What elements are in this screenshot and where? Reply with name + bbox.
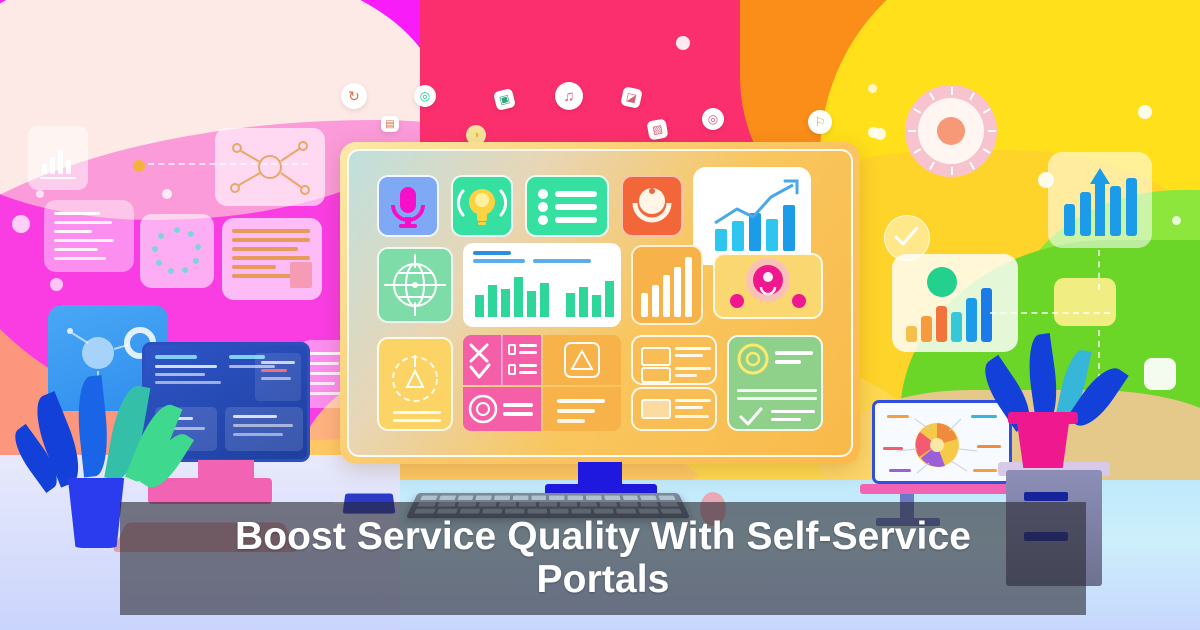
tile-customer-profile[interactable] — [713, 253, 823, 319]
tile-growth-chart[interactable] — [693, 167, 811, 265]
decor-dot — [868, 84, 877, 93]
tile-chat-support[interactable] — [463, 387, 541, 431]
tile-analytics-report[interactable] — [463, 243, 621, 327]
colored-bar-chart-icon — [892, 254, 1018, 352]
tile-resolved-tickets[interactable] — [727, 335, 823, 431]
decor-dot — [162, 189, 172, 199]
bullet-list-icon — [527, 177, 607, 235]
loading-dots-card — [140, 214, 214, 288]
photo-icon: ▣ — [498, 92, 511, 107]
decor-dashline — [990, 312, 1110, 314]
page-title: Boost Service Quality With Self-Service … — [188, 516, 1018, 600]
gauge-dial — [905, 85, 997, 177]
laptop[interactable] — [872, 400, 1012, 484]
warning-chart-icon — [543, 335, 621, 385]
tile-performance-bars[interactable] — [631, 245, 703, 325]
decor-dot-amber — [133, 160, 145, 172]
image-icon: ▤ — [385, 119, 394, 130]
decor-dot — [1172, 216, 1181, 225]
bar-chart-up-icon — [1048, 152, 1152, 248]
music-note-icon: ♫ — [563, 88, 574, 105]
frame-badge[interactable]: ▨ — [646, 118, 668, 140]
tile-ticket-list[interactable] — [525, 175, 609, 237]
mini-bar-chart-card — [28, 126, 88, 190]
spinner-dots-icon — [140, 214, 214, 288]
text-lines-card — [44, 200, 134, 272]
yellow-placeholder — [1054, 278, 1116, 326]
check-icon — [885, 216, 927, 258]
tile-workflow-actions[interactable] — [463, 335, 541, 385]
tile-gauge-meter[interactable] — [377, 337, 453, 431]
monitor-neck — [578, 462, 622, 486]
gallery-badge[interactable]: ▤ — [381, 116, 399, 132]
tile-alert-chart[interactable] — [543, 335, 621, 385]
globe-target-icon — [379, 249, 451, 321]
ascending-bars-icon — [633, 247, 701, 323]
tag-icon: ◪ — [625, 90, 638, 105]
tile-knowledge-base[interactable] — [631, 335, 717, 385]
colored-bars-card — [892, 254, 1018, 352]
lightbulb-icon — [453, 177, 511, 235]
decor-dot — [868, 127, 879, 138]
decor-dot — [12, 215, 30, 233]
tile-ideas[interactable] — [451, 175, 513, 237]
dial-gauge-icon — [937, 117, 965, 145]
decor-dashline — [1098, 330, 1100, 380]
document-card — [222, 218, 322, 300]
music-badge[interactable]: ♫ — [555, 82, 583, 110]
tile-article-list[interactable] — [631, 387, 717, 431]
refresh-badge[interactable]: ↻ — [341, 83, 367, 109]
tile-support-agent[interactable] — [621, 175, 683, 237]
decor-dashline — [1098, 250, 1100, 290]
network-node-card — [215, 128, 325, 206]
decor-dot — [676, 36, 690, 50]
ring-icon: ◎ — [708, 112, 718, 126]
plant-pot-right — [1014, 418, 1072, 468]
tile-global-reach[interactable] — [377, 247, 453, 323]
growth-arrow-card — [1048, 152, 1152, 248]
headset-icon — [623, 177, 681, 235]
flag-badge[interactable]: ⚐ — [808, 110, 832, 134]
decor-dot — [1038, 172, 1054, 188]
title-overlay-band: Boost Service Quality With Self-Service … — [120, 502, 1086, 615]
white-placeholder — [1144, 358, 1176, 390]
moon-icon: ◑ — [473, 129, 480, 141]
user-badge-icon — [715, 255, 821, 317]
monitor-screen — [347, 149, 853, 457]
bar-chart-icon — [463, 243, 621, 327]
chat-circle-icon — [463, 387, 541, 431]
circle-icon: ◎ — [420, 89, 430, 103]
tile-summary-lines[interactable] — [543, 387, 621, 431]
decor-dot — [1138, 105, 1152, 119]
node-graph-icon — [215, 128, 325, 206]
laptop-base — [860, 484, 1024, 494]
bar-chart-up-icon — [693, 167, 811, 265]
hero-banner: ↻ ▤ ◎ ◑ ▣ ♫ ◪ ▨ ◎ ⚐ — [0, 0, 1200, 630]
secondary-monitor-base — [148, 478, 272, 504]
circle-badge[interactable]: ◎ — [414, 85, 436, 107]
tile-voice-assistant[interactable] — [377, 175, 439, 237]
decor-dashline — [148, 163, 308, 165]
primary-monitor[interactable] — [340, 142, 860, 464]
decor-dot — [50, 278, 63, 291]
check-icon — [733, 403, 825, 431]
refresh-icon: ↻ — [348, 88, 360, 105]
microphone-icon — [379, 177, 437, 235]
flag-icon: ⚐ — [815, 115, 826, 129]
ring-badge[interactable]: ◎ — [702, 108, 724, 130]
frame-icon: ▨ — [651, 122, 664, 137]
mindmap-chart-icon — [875, 403, 1009, 481]
check-card-icon — [729, 337, 821, 383]
portal-dashboard-grid — [363, 165, 837, 441]
gauge-icon — [379, 339, 451, 413]
shuffle-list-icon — [463, 335, 541, 385]
decor-dot — [36, 190, 44, 198]
